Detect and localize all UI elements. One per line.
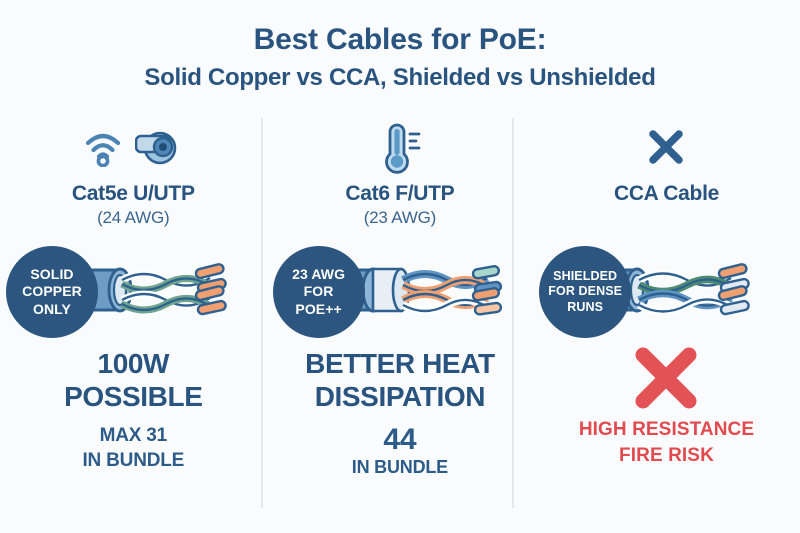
headline-line: 100W [0,347,267,380]
subtext-line: MAX 31 [0,424,267,449]
badge-cat6: 23 AWG FOR POE++ [273,246,365,338]
poe-cable-infographic: Best Cables for PoE: Solid Copper vs CCA… [0,0,800,533]
subtext-line: IN BUNDLE [0,449,267,474]
subtext-cat6: 44 IN BUNDLE [267,424,534,479]
icon-row-cat5e [0,116,267,178]
warning-line: FIRE RISK [533,443,800,469]
bundle-count: 44 [267,424,534,456]
headline-line: DISSIPATION [267,380,534,413]
cable-name-cat6: Cat6 F/UTP [267,182,534,206]
badge-line: FOR [304,283,334,300]
badge-cat5e: SOLID COPPER ONLY [6,246,98,338]
cable-illustration-cat6: 23 AWG FOR POE++ [267,240,534,340]
icon-row-cat6 [267,116,534,178]
badge-line: 23 AWG [292,266,345,283]
badge-cca: SHIELDED FOR DENSE RUNS [539,246,631,338]
icon-row-cca [533,116,800,178]
page-title: Best Cables for PoE: [0,22,800,57]
cable-name-cat5e: Cat5e U/UTP [0,182,267,206]
warning-text-cca: HIGH RESISTANCE FIRE RISK [533,417,800,468]
bundle-label: IN BUNDLE [267,456,534,479]
headline-line: BETTER HEAT [267,347,534,380]
cable-name-cca: CCA Cable [533,182,800,206]
headline-cat5e: 100W POSSIBLE [0,347,267,413]
thermometer-icon [377,120,423,174]
red-x-icon [628,340,704,416]
headline-cat6: BETTER HEAT DISSIPATION [267,347,534,413]
x-mark-icon [643,124,689,170]
comparison-columns: Cat5e U/UTP (24 AWG) [0,112,800,512]
badge-line: RUNS [567,300,603,315]
column-cat6: Cat6 F/UTP (23 AWG) [267,112,534,512]
badge-line: FOR DENSE [548,284,622,299]
column-cca: CCA Cable [533,112,800,512]
cable-awg-cat5e: (24 AWG) [0,208,267,228]
cable-illustration-cat5e: SOLID COPPER ONLY [0,240,267,340]
badge-line: SHIELDED [553,269,617,284]
cable-illustration-cca: SHIELDED FOR DENSE RUNS [533,240,800,340]
headline-line: POSSIBLE [0,380,267,413]
badge-line: POE++ [295,301,341,318]
cable-awg-cat6: (23 AWG) [267,208,534,228]
wifi-icon [83,127,127,167]
security-camera-icon [135,126,183,168]
warning-line: HIGH RESISTANCE [533,417,800,443]
column-cat5e: Cat5e U/UTP (24 AWG) [0,112,267,512]
page-subtitle: Solid Copper vs CCA, Shielded vs Unshiel… [0,63,800,93]
header: Best Cables for PoE: Solid Copper vs CCA… [0,22,800,93]
badge-line: COPPER [22,283,82,300]
warning-icon-wrap [533,340,800,421]
badge-line: SOLID [30,266,73,283]
subtext-cat5e: MAX 31 IN BUNDLE [0,424,267,473]
badge-line: ONLY [33,301,71,318]
